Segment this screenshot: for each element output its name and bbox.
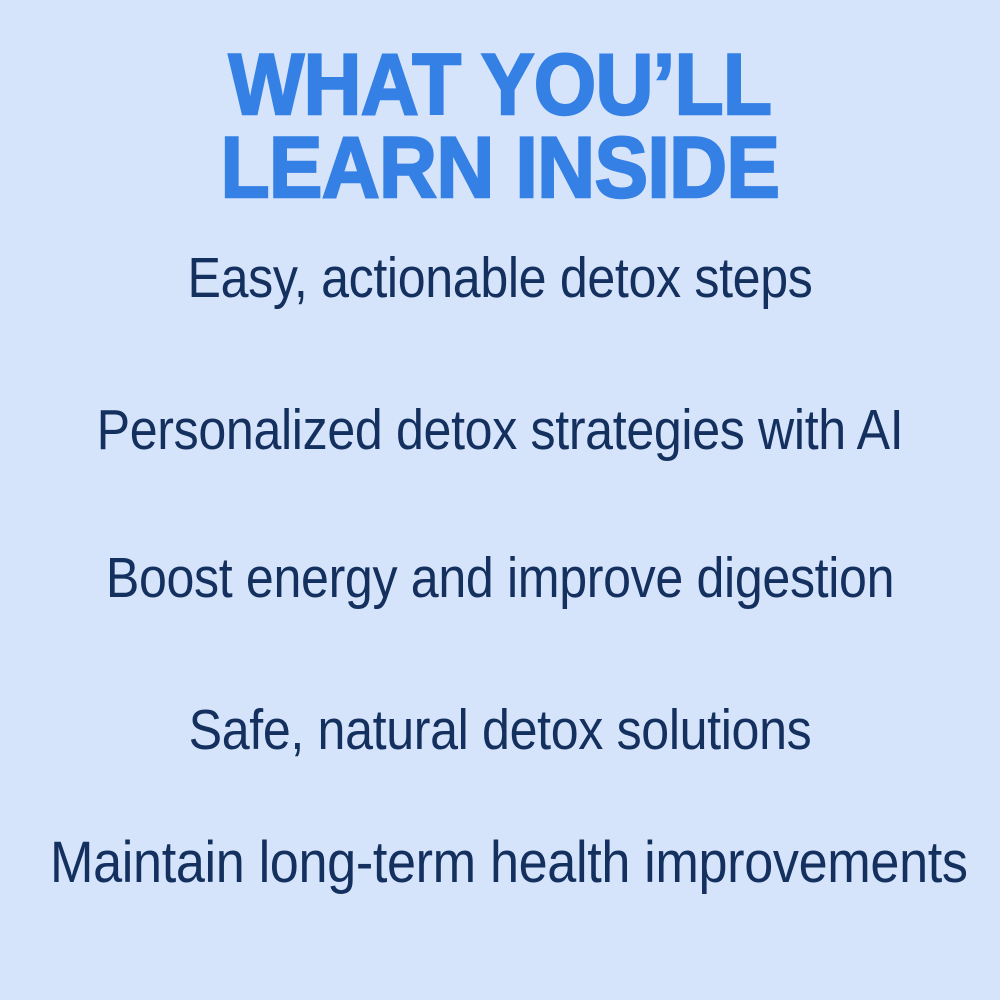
page-title-line-2: LEARN INSIDE	[35, 127, 965, 210]
page-title-line-1: WHAT YOU’LL	[35, 44, 965, 127]
page-title: WHAT YOU’LL LEARN INSIDE	[35, 44, 965, 209]
promo-slide: WHAT YOU’LL LEARN INSIDE Easy, actionabl…	[0, 0, 1000, 1000]
list-item: Safe, natural detox solutions	[60, 702, 940, 759]
list-item: Easy, actionable detox steps	[60, 250, 940, 307]
benefits-list: Easy, actionable detox steps Personalize…	[0, 236, 1000, 936]
list-item: Boost energy and improve digestion	[60, 550, 940, 607]
list-item: Maintain long-term health improvements	[50, 834, 950, 892]
list-item: Personalized detox strategies with AI	[60, 402, 940, 459]
